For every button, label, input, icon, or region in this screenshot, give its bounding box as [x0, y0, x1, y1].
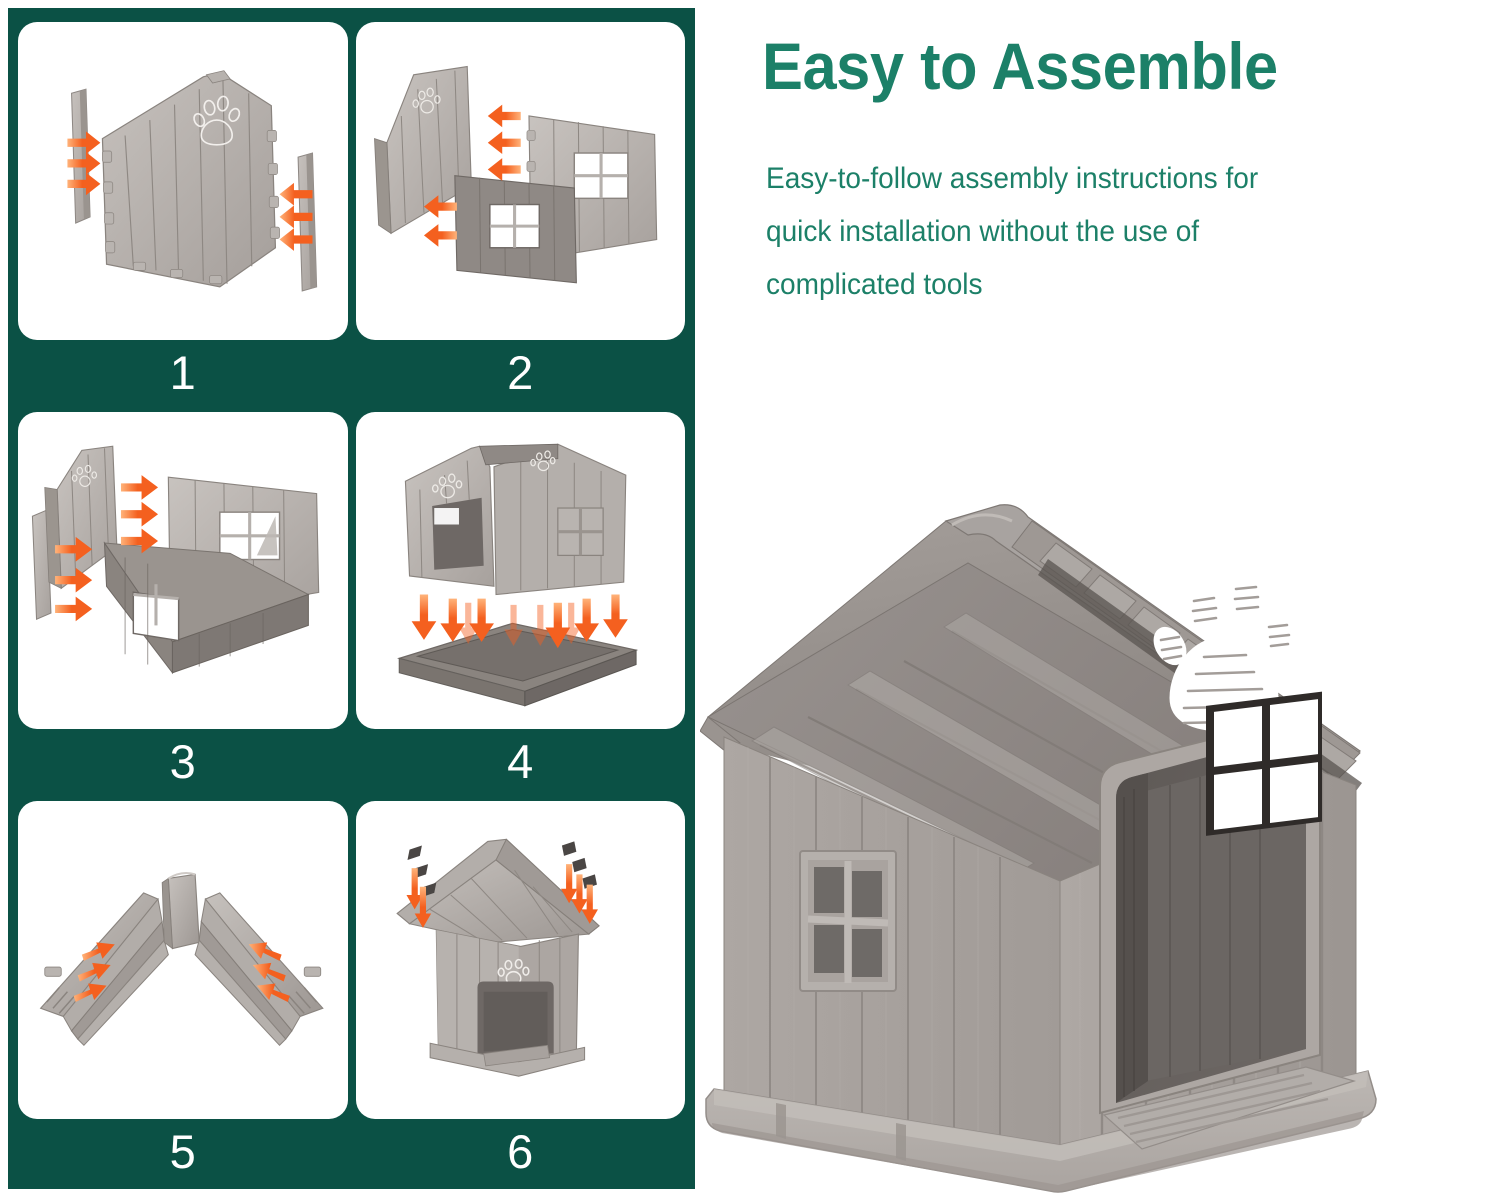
step-cell-3: 3	[18, 412, 348, 792]
step-3-illustration	[18, 412, 348, 730]
subtitle-line-2: quick installation without the use of	[766, 205, 1450, 258]
step-number-6: 6	[507, 1119, 533, 1181]
assembly-steps-panel: 1	[8, 8, 695, 1189]
side-window	[800, 851, 896, 991]
step-number-5: 5	[170, 1119, 196, 1181]
roof-panel-right	[195, 893, 323, 1045]
step-number-2: 2	[507, 340, 533, 402]
step-3-illustration-card	[18, 412, 348, 730]
front-panel-window	[454, 176, 576, 283]
right-column: Easy to Assemble Easy-to-follow assembly…	[700, 0, 1500, 1197]
side-window	[557, 508, 602, 555]
product-photo	[700, 455, 1500, 1197]
ridge-cap	[162, 873, 199, 949]
assembly-arrows-right	[280, 183, 313, 251]
plastic-dog-house-illustration	[700, 455, 1500, 1197]
front-wall-panel	[102, 71, 279, 287]
step-1-illustration	[18, 22, 348, 340]
step-number-4: 4	[507, 729, 533, 791]
roof-panel-left	[41, 893, 169, 1045]
step-6-illustration-card	[356, 801, 686, 1119]
subtitle-line-1: Easy-to-follow assembly instructions for	[766, 152, 1450, 205]
front-wall	[436, 930, 578, 1066]
page-subtitle: Easy-to-follow assembly instructions for…	[766, 152, 1450, 311]
step-5-illustration	[18, 801, 348, 1119]
page-title: Easy to Assemble	[762, 28, 1278, 104]
assembled-walls	[405, 444, 625, 594]
step-number-3: 3	[170, 729, 196, 791]
side-window	[574, 153, 628, 198]
step-cell-4: 4	[356, 412, 686, 792]
front-window	[489, 205, 538, 248]
step-cell-6: 6	[356, 801, 686, 1181]
step-2-illustration-card	[356, 22, 686, 340]
step-5-illustration-card	[18, 801, 348, 1119]
step-1-illustration-card	[18, 22, 348, 340]
step-cell-1: 1	[18, 22, 348, 402]
step-2-illustration	[356, 22, 686, 340]
step-6-illustration	[356, 801, 686, 1119]
front-wall-panel-folded	[32, 446, 116, 619]
rear-window	[1206, 692, 1322, 836]
subtitle-line-3: complicated tools	[766, 258, 1450, 311]
side-window	[220, 512, 280, 559]
side-rail-right	[298, 153, 317, 291]
step-number-1: 1	[170, 340, 196, 402]
step-cell-5: 5	[18, 801, 348, 1181]
step-4-illustration-card	[356, 412, 686, 730]
step-cell-2: 2	[356, 22, 686, 402]
infographic-page: 1	[0, 0, 1500, 1197]
step-4-illustration	[356, 412, 686, 730]
assembly-arrows-left	[67, 131, 100, 195]
